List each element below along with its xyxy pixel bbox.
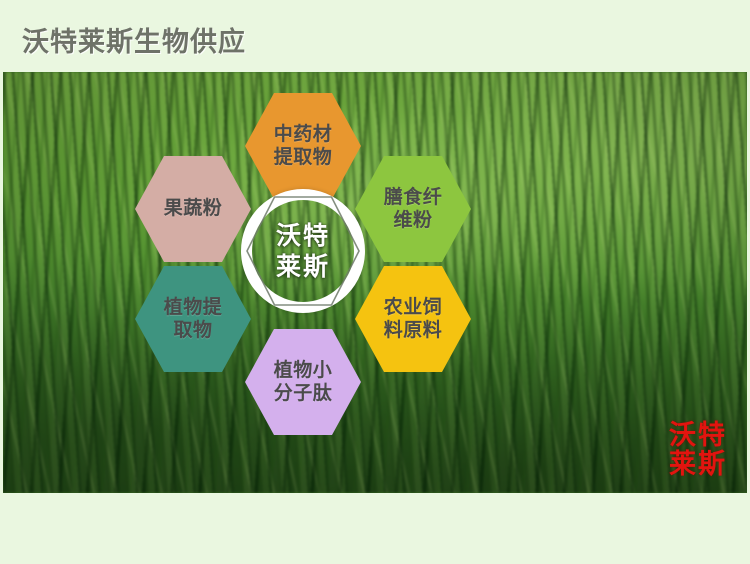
hexagon-label: 膳食纤 维粉 [373,186,453,232]
hexagon-plant-small-molecule-peptide[interactable]: 植物小 分子肽 [245,329,361,435]
hexagon-label: 植物提 取物 [153,296,233,342]
hexagon-label: 中药材 提取物 [263,123,343,169]
center-brand-label: 沃特 莱斯 [276,220,330,283]
hexagon-diagram: 中药材 提取物 膳食纤 维粉 农业饲 料原料 植物小 分子肽 植物提 取物 果蔬… [3,72,747,493]
hexagon-tcm-extract[interactable]: 中药材 提取物 [245,93,361,199]
center-hexagon[interactable]: 沃特 莱斯 [246,196,360,306]
slide-canvas: 沃特莱斯生物供应 中药材 提取物 膳食纤 维粉 农业饲 料原料 植物小 分子肽 … [0,0,750,564]
page-title: 沃特莱斯生物供应 [22,20,246,59]
hexagon-plant-extract[interactable]: 植物提 取物 [135,266,251,372]
hexagon-label: 植物小 分子肽 [263,359,343,405]
banner-image: 中药材 提取物 膳食纤 维粉 农业饲 料原料 植物小 分子肽 植物提 取物 果蔬… [3,72,747,493]
title-bar: 沃特莱斯生物供应 [0,0,750,72]
watermark-line-1: 沃特 [669,422,727,450]
hexagon-fruit-vegetable-powder[interactable]: 果蔬粉 [135,156,251,262]
brand-watermark: 沃特 莱斯 [669,422,727,479]
hexagon-dietary-fiber-powder[interactable]: 膳食纤 维粉 [355,156,471,262]
hexagon-label: 果蔬粉 [153,197,233,220]
bottom-spacer [0,493,750,564]
watermark-line-2: 莱斯 [669,451,727,479]
hexagon-agricultural-feed-material[interactable]: 农业饲 料原料 [355,266,471,372]
hexagon-label: 农业饲 料原料 [373,296,453,342]
